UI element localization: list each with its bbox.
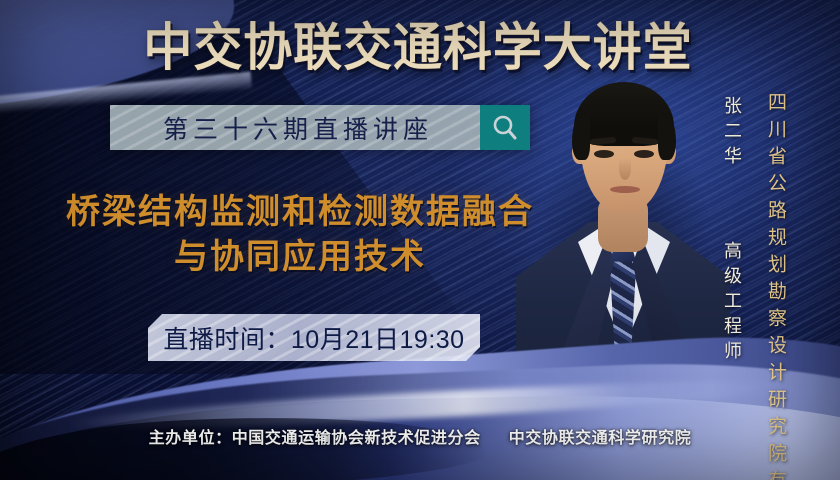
lecture-title: 桥梁结构监测和检测数据融合 与协同应用技术	[40, 190, 560, 280]
page-title: 中交协联交通科学大讲堂	[140, 16, 697, 78]
portrait-eye-left	[594, 150, 614, 158]
search-icon	[490, 113, 520, 143]
session-label: 第三十六期直播讲座	[157, 110, 433, 146]
session-search-field[interactable]: 第三十六期直播讲座	[110, 105, 480, 150]
session-search-bar[interactable]: 第三十六期直播讲座	[110, 105, 530, 150]
live-time-text: 直播时间：10月21日19:30	[163, 320, 464, 356]
speaker-name-and-title: 张二华 高级工程师	[719, 96, 745, 366]
footer-org-1: 中国交通运输协会新技术促进分会	[232, 430, 481, 447]
footer-prefix: 主办单位：	[149, 430, 232, 447]
portrait-nose	[619, 158, 631, 180]
live-time-badge: 直播时间：10月21日19:30	[148, 314, 480, 361]
speaker-organization: 四川省公路规划勘察设计研究院有限公司	[762, 92, 789, 480]
speaker-title: 高级工程师	[722, 241, 742, 366]
portrait-hair-side-left	[572, 114, 590, 160]
footer-organizers: 主办单位：中国交通运输协会新技术促进分会中交协联交通科学研究院	[0, 424, 840, 448]
portrait-mouth	[610, 186, 640, 193]
speaker-name: 张二华	[722, 96, 742, 171]
webinar-poster: 中交协联交通科学大讲堂 第三十六期直播讲座 桥梁结构监测和检测数据融合 与协同应…	[0, 0, 840, 480]
footer-org-2: 中交协联交通科学研究院	[509, 430, 692, 447]
search-button[interactable]	[480, 105, 530, 150]
lecture-title-line1: 桥梁结构监测和检测数据融合	[40, 190, 560, 235]
portrait-eye-right	[634, 150, 654, 158]
lecture-title-line2: 与协同应用技术	[40, 235, 560, 280]
